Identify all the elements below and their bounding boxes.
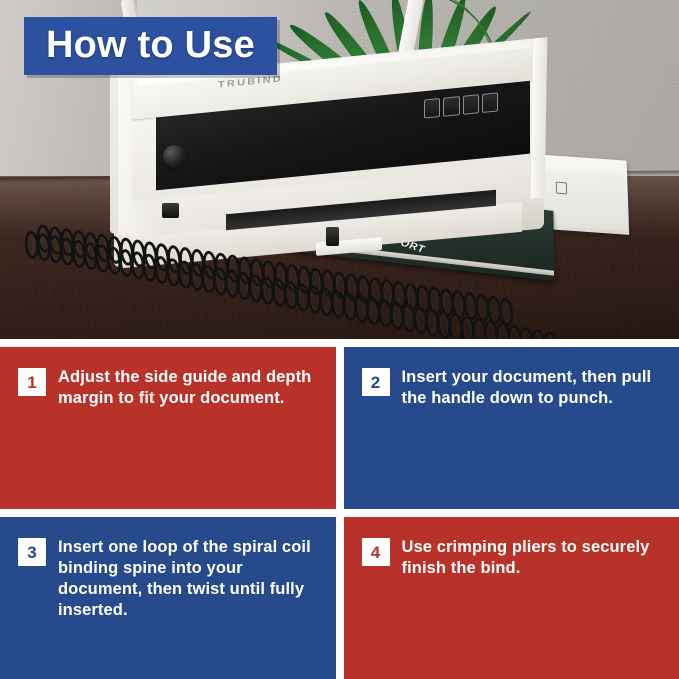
step-number-badge-4: 4 (362, 538, 390, 566)
depth-margin-knob (163, 145, 186, 168)
control-button-1-icon (424, 98, 440, 119)
step-card-3: 3 Insert one loop of the spiral coil bin… (0, 517, 336, 679)
step-text-4: Use crimping pliers to securely finish t… (402, 537, 666, 579)
side-lever (162, 203, 179, 218)
step-number-badge-1: 1 (18, 368, 46, 396)
how-to-use-infographic: TRUBIND ANNUAL BUSINESS REPORT TRUBIND (0, 0, 679, 679)
side-guide-post (326, 227, 339, 246)
step-text-2: Insert your document, then pull the hand… (402, 367, 666, 409)
banner-title: How to Use (46, 25, 255, 65)
spiral-coils (12, 258, 342, 330)
control-button-2-icon (443, 96, 459, 117)
step-card-2: 2 Insert your document, then pull the ha… (344, 347, 679, 509)
control-button-3-icon (463, 94, 479, 115)
product-photo: TRUBIND ANNUAL BUSINESS REPORT TRUBIND (0, 0, 679, 339)
how-to-use-banner: How to Use (24, 17, 277, 75)
step-number-badge-2: 2 (362, 368, 390, 396)
steps-grid: 1 Adjust the side guide and depth margin… (0, 339, 679, 679)
machine-right-post (531, 37, 548, 198)
control-button-4-icon (482, 92, 498, 113)
step-text-1: Adjust the side guide and depth margin t… (58, 367, 322, 409)
step-card-1: 1 Adjust the side guide and depth margin… (0, 347, 336, 509)
step-number-badge-3: 3 (18, 538, 46, 566)
step-card-4: 4 Use crimping pliers to securely finish… (344, 517, 679, 679)
step-text-3: Insert one loop of the spiral coil bindi… (58, 537, 322, 621)
